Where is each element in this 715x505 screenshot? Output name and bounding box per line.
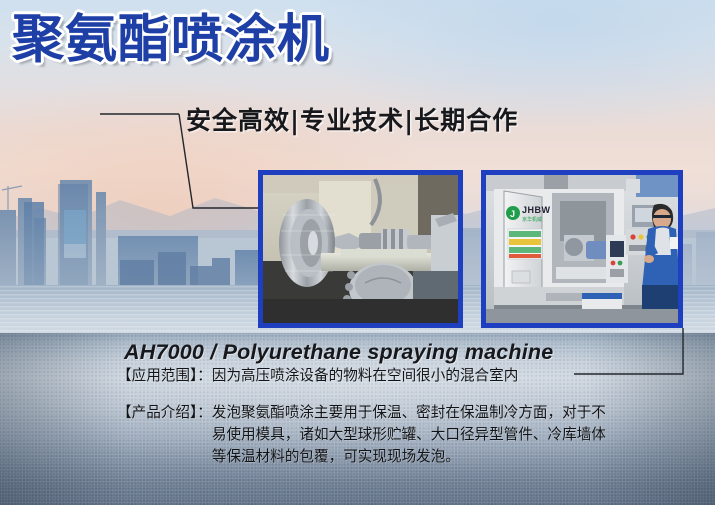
svg-text:京华机威: 京华机威 bbox=[522, 216, 542, 223]
tagline: 安全高效|专业技术|长期合作 bbox=[186, 101, 518, 137]
svg-text:JHBW: JHBW bbox=[522, 205, 551, 215]
product-model-title: AH7000 / Polyurethane spraying machine bbox=[124, 340, 553, 365]
spec-label: 【产品介绍】： bbox=[117, 402, 212, 424]
spec-row: 【产品介绍】：发泡聚氨酯喷涂主要用于保温、密封在保温制冷方面，对于不易使用模具，… bbox=[117, 402, 625, 468]
spec-row: 【应用范围】：因为高压喷涂设备的物料在空间很小的混合室内 bbox=[117, 365, 518, 387]
page-title: 聚氨酯喷涂机 bbox=[12, 14, 330, 66]
lathe-machining-photo[interactable] bbox=[258, 170, 463, 328]
spec-value: 因为高压喷涂设备的物料在空间很小的混合室内 bbox=[212, 367, 518, 384]
promo-banner: J JHBW 京华机威 bbox=[0, 0, 715, 505]
cnc-machine-operator-photo[interactable]: J JHBW 京华机威 bbox=[481, 170, 683, 328]
svg-text:J: J bbox=[510, 209, 515, 219]
spec-value: 发泡聚氨酯喷涂主要用于保温、密封在保温制冷方面，对于不易使用模具，诸如大型球形贮… bbox=[212, 402, 610, 468]
spec-label: 【应用范围】： bbox=[117, 365, 212, 387]
